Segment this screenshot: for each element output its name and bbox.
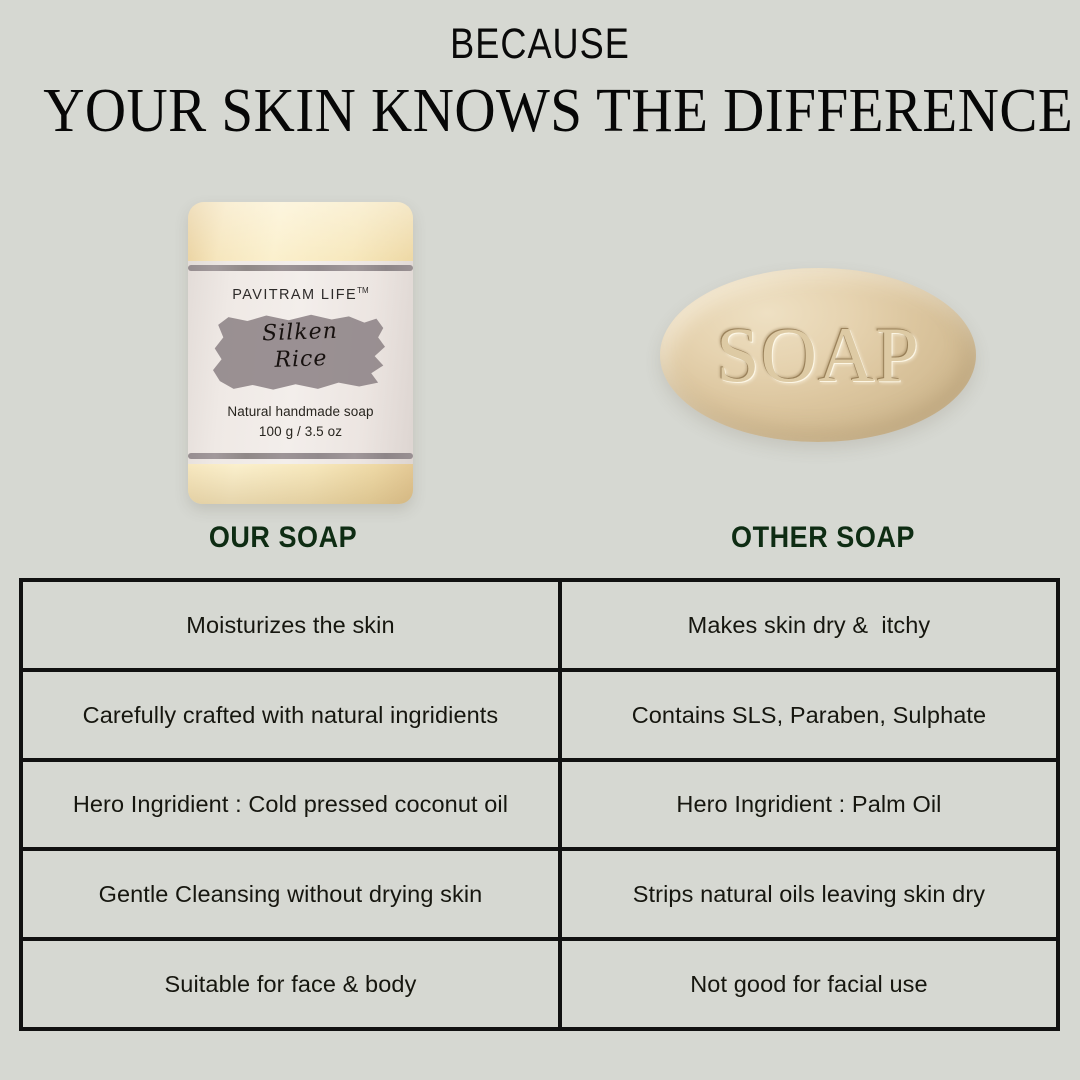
soap-description: Natural handmade soap bbox=[188, 404, 413, 419]
product-name-line-1: Silken bbox=[262, 319, 338, 347]
brand-text: PAVITRAM LIFE bbox=[232, 287, 357, 303]
table-cell-our-soap: Hero Ingridient : Cold pressed coconut o… bbox=[23, 762, 562, 848]
headline-block: BECAUSE YOUR SKIN KNOWS THE DIFFERENCE bbox=[0, 0, 1080, 144]
table-cell-our-soap: Suitable for face & body bbox=[23, 941, 562, 1027]
table-cell-other-soap: Hero Ingridient : Palm Oil bbox=[562, 762, 1056, 848]
table-cell-our-soap: Gentle Cleansing without drying skin bbox=[23, 851, 562, 937]
table-cell-other-soap: Not good for facial use bbox=[562, 941, 1056, 1027]
oval-soap-emboss-text: SOAP bbox=[716, 316, 919, 394]
table-cell-our-soap: Moisturizes the skin bbox=[23, 582, 562, 668]
table-cell-other-soap: Strips natural oils leaving skin dry bbox=[562, 851, 1056, 937]
column-caption-our-soap: OUR SOAP bbox=[28, 521, 537, 555]
table-cell-other-soap: Makes skin dry & itchy bbox=[562, 582, 1056, 668]
soap-bar-highlight bbox=[188, 202, 413, 260]
headline-line-1: BECAUSE bbox=[86, 22, 993, 67]
soap-label-band: PAVITRAM LIFETM Silken Rice Natural hand… bbox=[188, 261, 413, 464]
headline-line-2: YOUR SKIN KNOWS THE DIFFERENCE bbox=[43, 79, 1037, 144]
comparison-table: Moisturizes the skin Makes skin dry & it… bbox=[19, 578, 1060, 1031]
soap-product-name: Silken Rice bbox=[188, 315, 413, 377]
label-brush-line-bottom bbox=[188, 453, 413, 459]
our-soap-product-image: PAVITRAM LIFETM Silken Rice Natural hand… bbox=[188, 202, 413, 504]
product-name-line-2: Rice bbox=[188, 342, 413, 377]
soap-brand-name: PAVITRAM LIFETM bbox=[188, 286, 413, 303]
comparison-infographic: BECAUSE YOUR SKIN KNOWS THE DIFFERENCE P… bbox=[0, 0, 1080, 1080]
table-row: Gentle Cleansing without drying skin Str… bbox=[23, 851, 1056, 941]
soap-bar-shadow bbox=[188, 464, 413, 504]
label-brush-line-top bbox=[188, 265, 413, 271]
table-row: Carefully crafted with natural ingridien… bbox=[23, 672, 1056, 762]
soap-net-weight: 100 g / 3.5 oz bbox=[188, 424, 413, 439]
table-cell-other-soap: Contains SLS, Paraben, Sulphate bbox=[562, 672, 1056, 758]
table-row: Hero Ingridient : Cold pressed coconut o… bbox=[23, 762, 1056, 852]
table-cell-our-soap: Carefully crafted with natural ingridien… bbox=[23, 672, 562, 758]
other-soap-product-image: SOAP bbox=[660, 268, 976, 442]
column-caption-other-soap: OTHER SOAP bbox=[592, 521, 1055, 555]
table-row: Moisturizes the skin Makes skin dry & it… bbox=[23, 582, 1056, 672]
table-row: Suitable for face & body Not good for fa… bbox=[23, 941, 1056, 1027]
trademark-symbol: TM bbox=[357, 286, 369, 295]
